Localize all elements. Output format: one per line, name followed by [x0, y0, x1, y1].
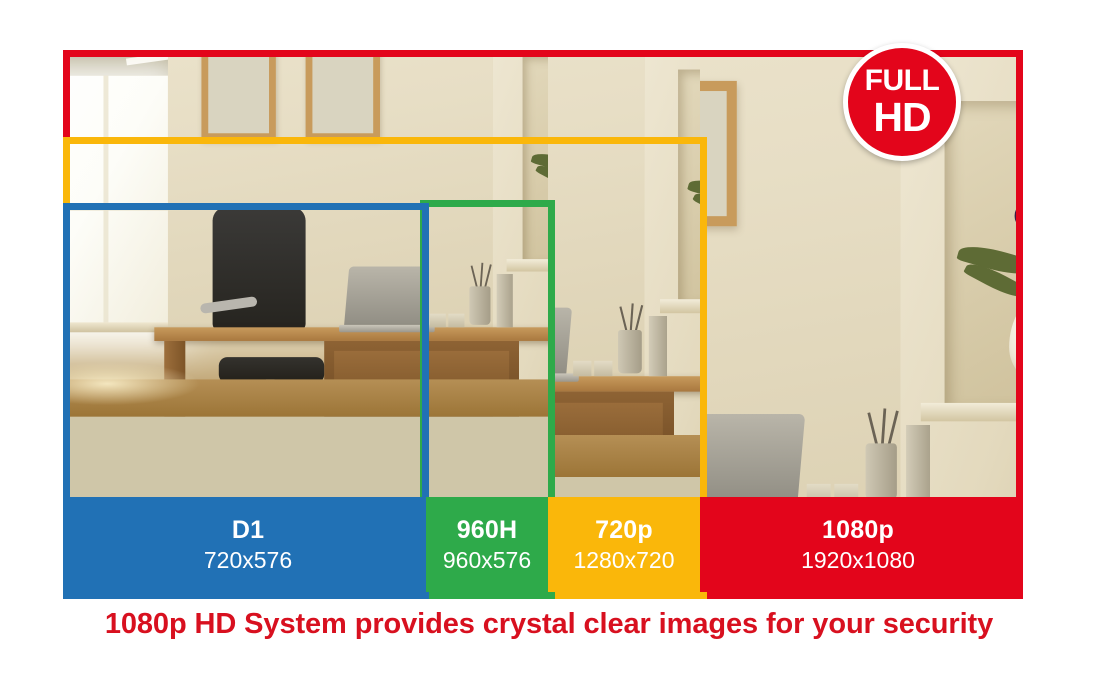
label-res-960h: 960x576	[443, 548, 531, 572]
label-res-720p: 1280x720	[573, 548, 674, 572]
label-bar-d1[interactable]: D1 720x576	[70, 497, 426, 592]
label-name-d1: D1	[232, 517, 264, 543]
label-bar-720p[interactable]: 720p 1280x720	[548, 497, 700, 592]
full-hd-badge: FULL HD	[843, 43, 961, 161]
infographic-root: D1 720x576 960H 960x576 720p 1280x720 10…	[0, 0, 1098, 700]
label-bar-960h[interactable]: 960H 960x576	[426, 497, 548, 592]
badge-line-1: FULL	[865, 67, 940, 96]
label-res-1080p: 1920x1080	[801, 548, 915, 572]
resolution-label-bars: D1 720x576 960H 960x576 720p 1280x720 10…	[70, 497, 1016, 592]
label-name-1080p: 1080p	[822, 517, 894, 543]
label-name-720p: 720p	[595, 517, 653, 543]
label-res-d1: 720x576	[204, 548, 292, 572]
badge-line-2: HD	[873, 98, 930, 137]
caption-text: 1080p HD System provides crystal clear i…	[0, 608, 1098, 641]
label-name-960h: 960H	[457, 517, 518, 543]
label-bar-1080p[interactable]: 1080p 1920x1080	[700, 497, 1016, 592]
